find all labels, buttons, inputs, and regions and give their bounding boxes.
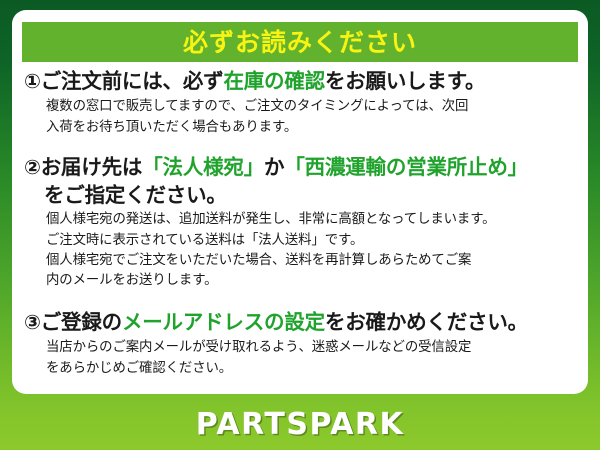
notice-body-line: をあらかじめご確認ください。: [46, 359, 576, 379]
notice-number-icon: ①: [24, 69, 41, 93]
notice-heading-text: ご注文前には、必ず: [41, 69, 224, 93]
notice-body-line: 複数の窓口で販売してますので、ご注文のタイミングによっては、次回: [46, 97, 576, 117]
notice-heading-line2: をご指定ください。: [24, 182, 576, 209]
notice-header-band: 必ずお読みください: [22, 22, 578, 62]
notice-body-line: 内のメールをお送りします。: [46, 271, 576, 291]
notice-heading-accent: メールアドレスの設定: [122, 310, 325, 334]
notice-body-line: 個人様宅宛でご注文をいただいた場合、送料を再計算しあらためてご案: [46, 251, 576, 271]
notice-heading: ①ご注文前には、必ず在庫の確認をお願いします。: [24, 68, 576, 95]
notice-body: 当店からのご案内メールが受け取れるよう、迷惑メールなどの受信設定をあらかじめご確…: [24, 338, 576, 379]
notice-item: ③ご登録のメールアドレスの設定をお確かめください。当店からのご案内メールが受け取…: [24, 309, 576, 379]
brand-footer: PARTSPARK: [0, 398, 600, 450]
notice-body-line: 入荷をお待ち頂いただく場合もあります。: [46, 118, 576, 138]
notice-body-line: ご注文時に表示されている送料は「法人送料」です。: [46, 231, 576, 251]
notice-heading: ③ご登録のメールアドレスの設定をお確かめください。: [24, 309, 576, 336]
notice-heading-text: をお確かめください。: [325, 310, 528, 334]
notice-body-line: 個人様宅宛の発送は、追加送料が発生し、非常に高額となってしまいます。: [46, 210, 576, 230]
notice-body: 個人様宅宛の発送は、追加送料が発生し、非常に高額となってしまいます。ご注文時に表…: [24, 210, 576, 292]
notice-number-icon: ③: [24, 310, 41, 334]
notice-heading-text: お届け先は: [41, 155, 143, 179]
notice-body: 複数の窓口で販売してますので、ご注文のタイミングによっては、次回入荷をお待ち頂い…: [24, 97, 576, 138]
brand-name: PARTSPARK: [196, 407, 405, 442]
notice-heading-text: ご登録の: [41, 310, 122, 334]
notice-banner-image: 必ずお読みください ①ご注文前には、必ず在庫の確認をお願いします。複数の窓口で販…: [0, 0, 600, 450]
notice-list: ①ご注文前には、必ず在庫の確認をお願いします。複数の窓口で販売してますので、ご注…: [12, 68, 588, 381]
notice-heading-accent: 「西濃運輸の営業所止め」: [284, 155, 528, 179]
page-title: 必ずお読みください: [183, 30, 417, 55]
notice-item: ②お届け先は「法人様宛」か「西濃運輸の営業所止め」をご指定ください。個人様宅宛の…: [24, 154, 576, 292]
notice-heading-accent: 「法人様宛」: [142, 155, 264, 179]
notice-panel: 必ずお読みください ①ご注文前には、必ず在庫の確認をお願いします。複数の窓口で販…: [12, 10, 588, 394]
notice-heading-accent: 在庫の確認: [223, 69, 325, 93]
notice-body-line: 当店からのご案内メールが受け取れるよう、迷惑メールなどの受信設定: [46, 338, 576, 358]
notice-number-icon: ②: [24, 155, 41, 179]
notice-heading-text: をお願いします。: [325, 69, 485, 93]
notice-item: ①ご注文前には、必ず在庫の確認をお願いします。複数の窓口で販売してますので、ご注…: [24, 68, 576, 138]
notice-heading-text: か: [264, 155, 284, 179]
notice-heading: ②お届け先は「法人様宛」か「西濃運輸の営業所止め」: [24, 154, 576, 181]
